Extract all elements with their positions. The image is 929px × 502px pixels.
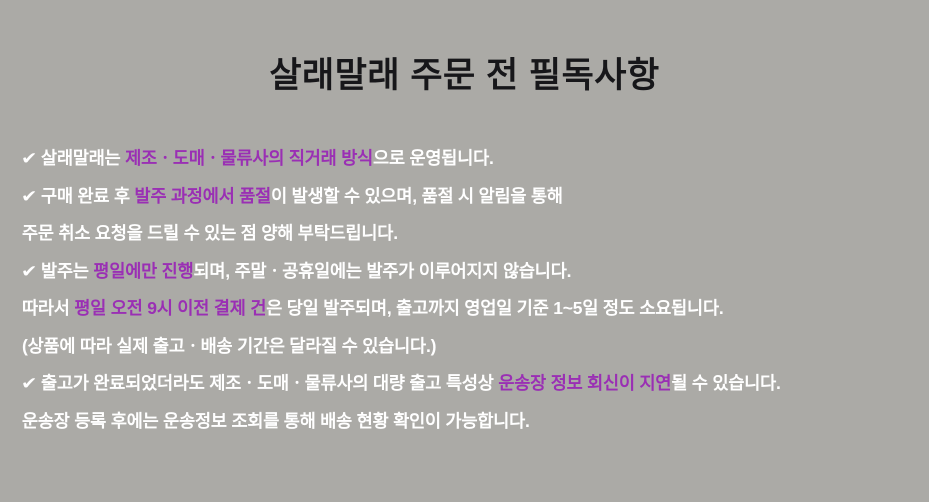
notice-line: 주문 취소 요청을 드릴 수 있는 점 양해 부탁드립니다.	[22, 215, 922, 253]
notice-line: ✔출고가 완료되었더라도 제조ㆍ도매ㆍ물류사의 대량 출고 특성상 운송장 정보…	[22, 365, 922, 403]
check-icon: ✔	[21, 140, 37, 178]
highlighted-text: 제조ㆍ도매ㆍ물류사의 직거래 방식	[125, 148, 373, 168]
notice-line: ✔구매 완료 후 발주 과정에서 품절이 발생할 수 있으며, 품절 시 알림을…	[22, 178, 922, 216]
notice-text: 될 수 있습니다.	[671, 373, 780, 393]
notice-line: 따라서 평일 오전 9시 이전 결제 건은 당일 발주되며, 출고까지 영업일 …	[22, 290, 922, 328]
notice-text: 되며, 주말ㆍ공휴일에는 발주가 이루어지지 않습니다.	[193, 261, 571, 281]
page-title: 살래말래 주문 전 필독사항	[0, 55, 929, 97]
notice-line-list: ✔살래말래는 제조ㆍ도매ㆍ물류사의 직거래 방식으로 운영됩니다.✔구매 완료 …	[22, 140, 922, 440]
notice-banner: 살래말래 주문 전 필독사항 ✔살래말래는 제조ㆍ도매ㆍ물류사의 직거래 방식으…	[0, 0, 929, 502]
highlighted-text: 평일에만 진행	[93, 261, 193, 281]
notice-text: (상품에 따라 실제 출고ㆍ배송 기간은 달라질 수 있습니다.)	[22, 336, 436, 356]
notice-text: 으로 운영됩니다.	[373, 148, 494, 168]
highlighted-text: 발주 과정에서 품절	[135, 186, 272, 206]
check-icon: ✔	[21, 365, 37, 403]
notice-line: ✔발주는 평일에만 진행되며, 주말ㆍ공휴일에는 발주가 이루어지지 않습니다.	[22, 253, 922, 291]
notice-text: 따라서	[22, 298, 74, 318]
notice-text: 살래말래는	[41, 148, 125, 168]
notice-text: 운송장 등록 후에는 운송정보 조회를 통해 배송 현황 확인이 가능합니다.	[22, 411, 530, 431]
highlighted-text: 운송장 정보 회신이 지연	[498, 373, 671, 393]
notice-text: 구매 완료 후	[41, 186, 135, 206]
notice-line: (상품에 따라 실제 출고ㆍ배송 기간은 달라질 수 있습니다.)	[22, 328, 922, 366]
notice-line: 운송장 등록 후에는 운송정보 조회를 통해 배송 현황 확인이 가능합니다.	[22, 403, 922, 441]
check-icon: ✔	[21, 253, 37, 291]
notice-text: 은 당일 발주되며, 출고까지 영업일 기준 1~5일 정도 소요됩니다.	[266, 298, 723, 318]
notice-line: ✔살래말래는 제조ㆍ도매ㆍ물류사의 직거래 방식으로 운영됩니다.	[22, 140, 922, 178]
notice-text: 주문 취소 요청을 드릴 수 있는 점 양해 부탁드립니다.	[22, 223, 398, 243]
highlighted-text: 평일 오전 9시 이전 결제 건	[74, 298, 266, 318]
notice-text: 이 발생할 수 있으며, 품절 시 알림을 통해	[271, 186, 563, 206]
notice-text: 발주는	[41, 261, 93, 281]
check-icon: ✔	[21, 178, 37, 216]
notice-text: 출고가 완료되었더라도 제조ㆍ도매ㆍ물류사의 대량 출고 특성상	[41, 373, 498, 393]
